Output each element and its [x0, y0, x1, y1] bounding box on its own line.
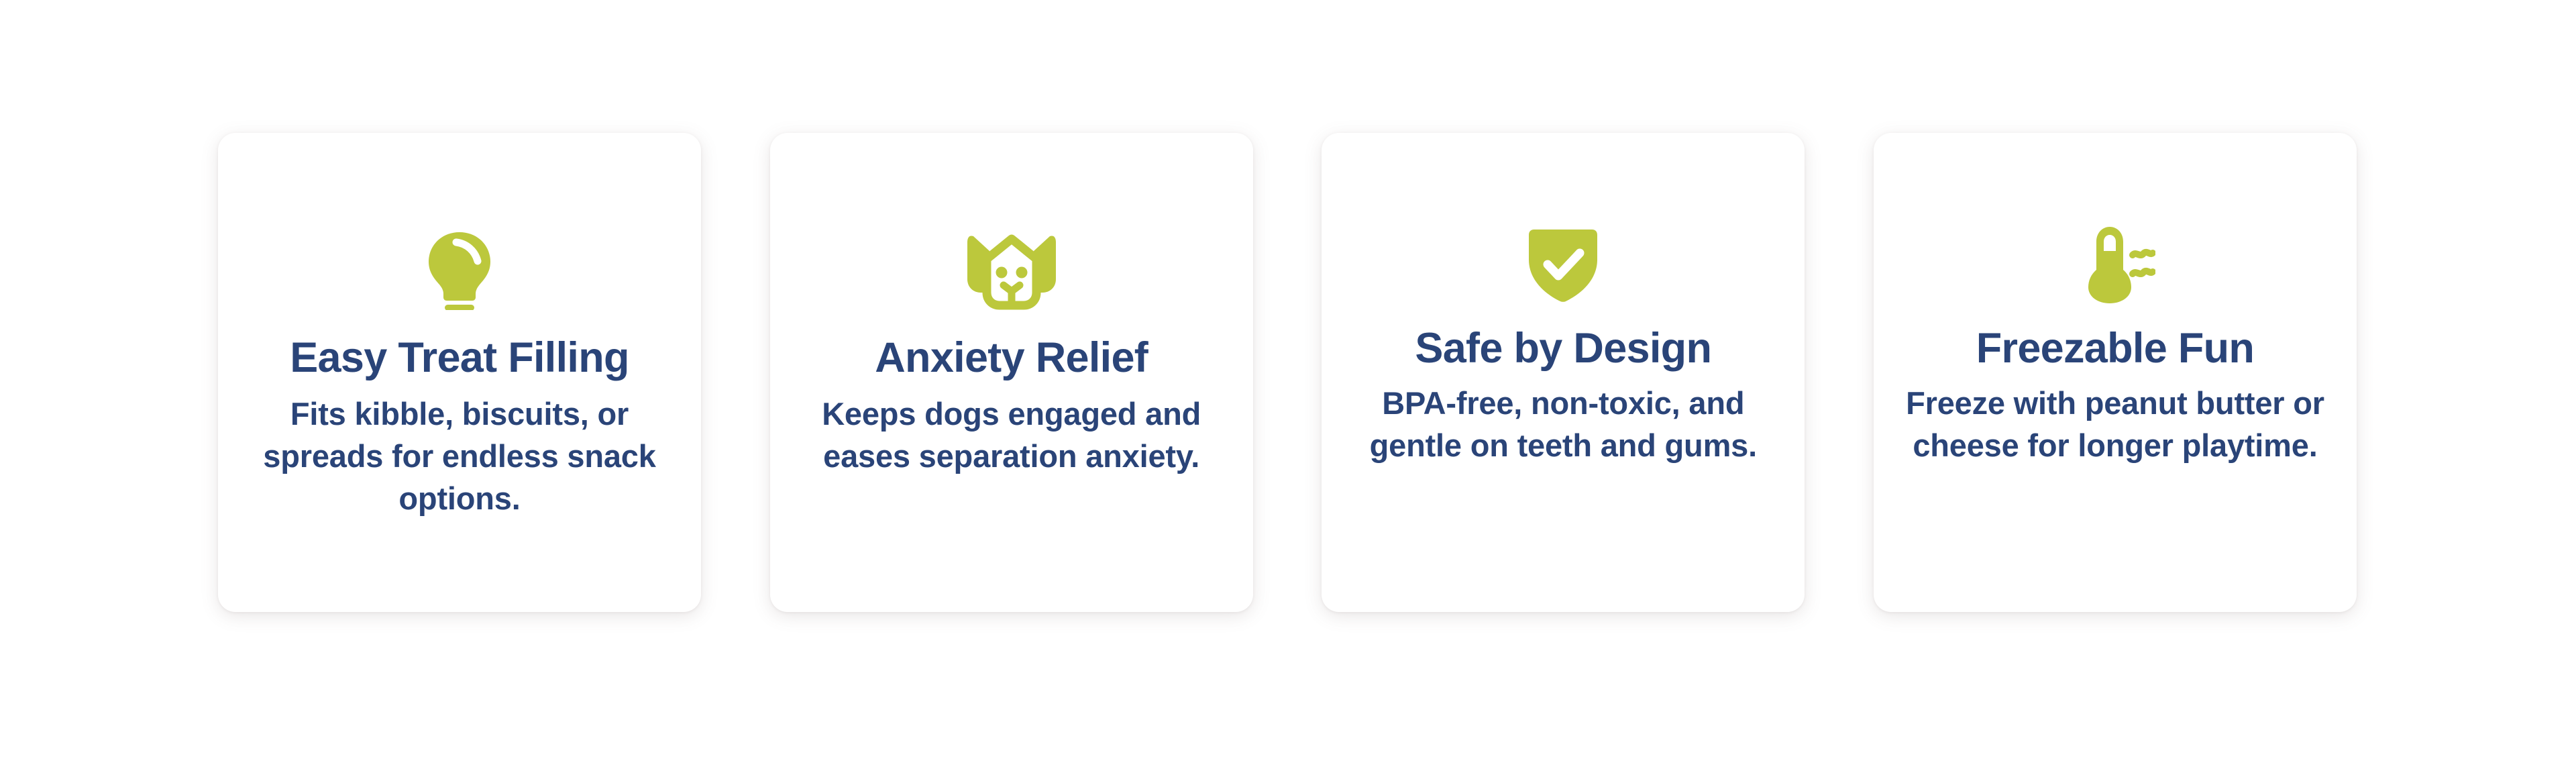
feature-card-easy-treat-filling[interactable]: Easy Treat Filling Fits kibble, biscuits… [218, 133, 701, 612]
card-description: Fits kibble, biscuits, or spreads for en… [225, 393, 694, 520]
feature-cards-row: Easy Treat Filling Fits kibble, biscuits… [218, 133, 2357, 612]
thermometer-cold-icon [2061, 221, 2169, 309]
shield-check-icon [1509, 221, 1617, 309]
feature-card-freezable-fun[interactable]: Freezable Fun Freeze with peanut butter … [1874, 133, 2357, 612]
card-title: Freezable Fun [1976, 326, 2255, 370]
feature-card-anxiety-relief[interactable]: Anxiety Relief Keeps dogs engaged and ea… [770, 133, 1253, 612]
feature-cards-section: Easy Treat Filling Fits kibble, biscuits… [0, 0, 2576, 759]
feature-card-safe-by-design[interactable]: Safe by Design BPA-free, non-toxic, and … [1322, 133, 1805, 612]
card-title: Safe by Design [1415, 326, 1711, 370]
card-description: Freeze with peanut butter or cheese for … [1880, 383, 2350, 467]
card-title: Easy Treat Filling [290, 336, 629, 380]
lightbulb-icon [406, 227, 513, 314]
card-description: Keeps dogs engaged and eases separation … [777, 393, 1246, 478]
dog-face-icon [958, 227, 1065, 314]
card-description: BPA-free, non-toxic, and gentle on teeth… [1328, 383, 1798, 467]
card-title: Anxiety Relief [875, 336, 1148, 380]
